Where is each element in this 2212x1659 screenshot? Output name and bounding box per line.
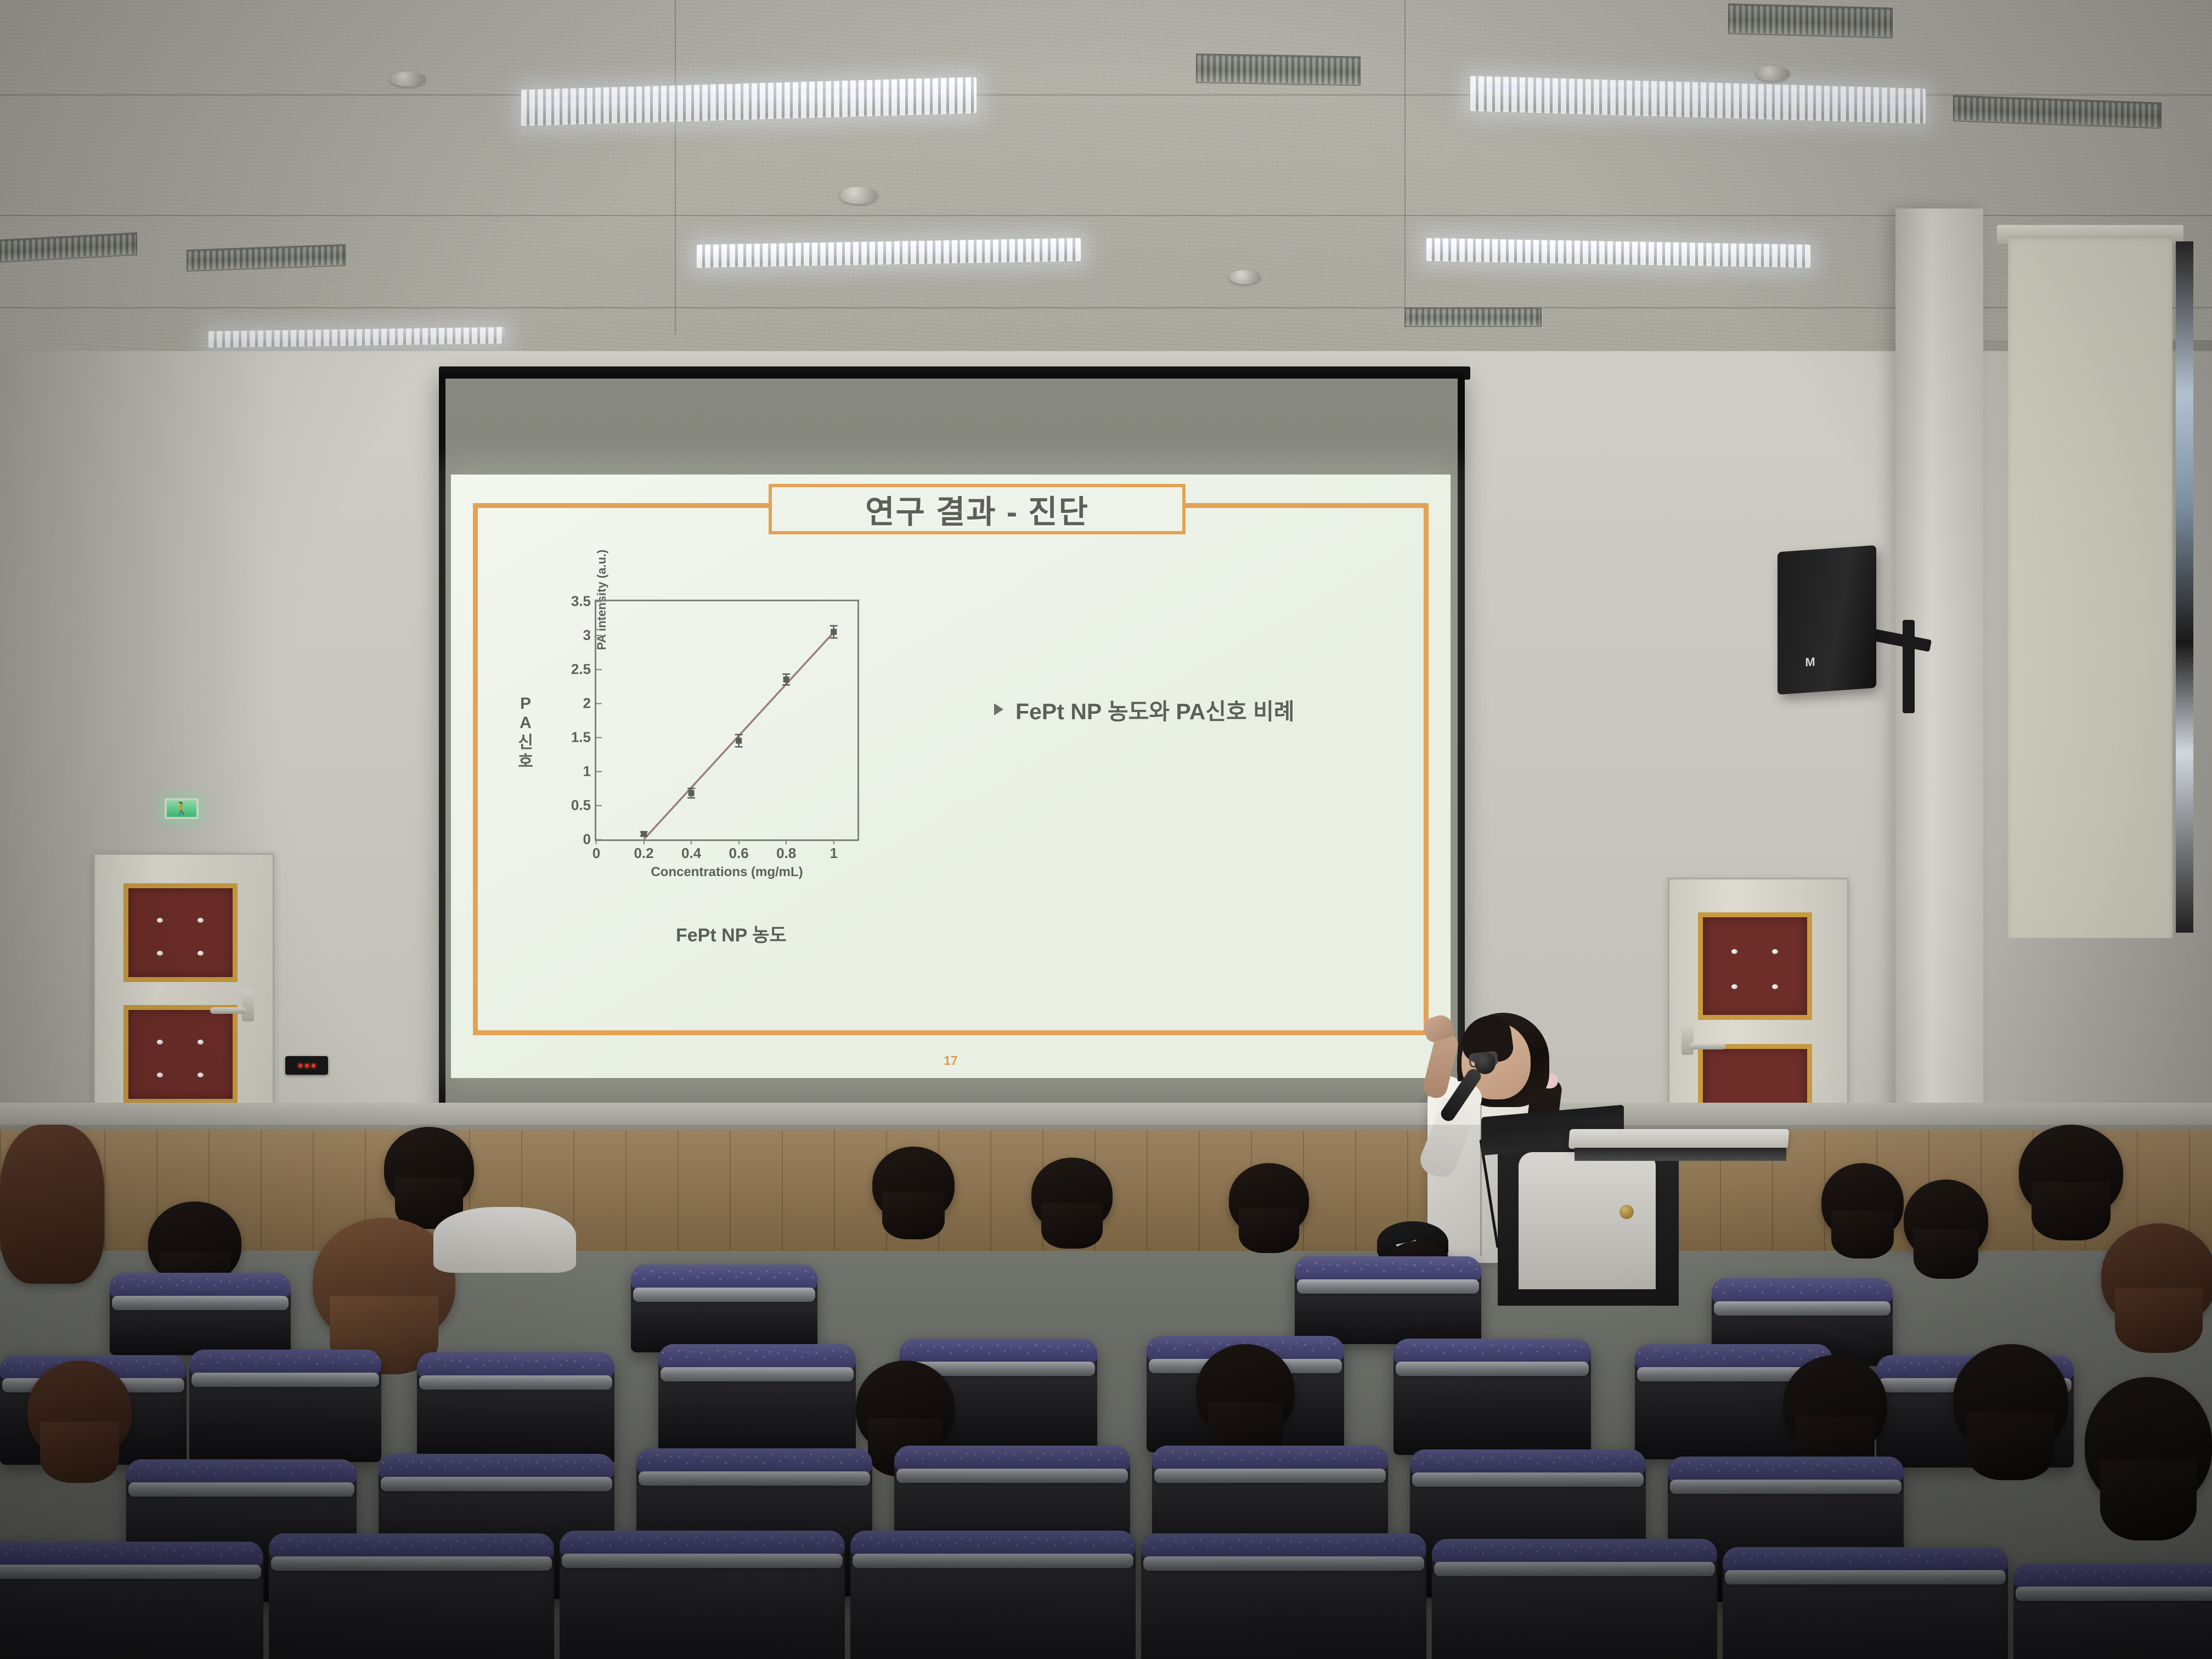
lecture-hall-photo: 연구 결과 - 진단 P A 신 호 PA intensity (a.u.) C… (0, 0, 2212, 1659)
chart-y-tick: 2 (583, 695, 596, 712)
smoke-detector-icon (1229, 270, 1261, 284)
door-handle[interactable] (1689, 1043, 1725, 1049)
plot-wrapper: PA intensity (a.u.) Concentrations (mg/m… (562, 590, 869, 875)
seat[interactable] (850, 1531, 1136, 1659)
door-left[interactable] (93, 853, 274, 1144)
chart-y-tick: 2.5 (571, 661, 596, 678)
audience-head (1783, 1355, 1887, 1454)
audience-head (1196, 1344, 1295, 1437)
chart-x-tick: 0.2 (634, 839, 653, 862)
door-panel (1698, 912, 1812, 1020)
audience-head (1031, 1158, 1113, 1231)
seat[interactable] (1141, 1533, 1426, 1659)
audience-head (872, 1147, 955, 1221)
door-panel (123, 883, 238, 982)
seat[interactable] (269, 1533, 554, 1659)
ceiling-seam (1404, 0, 1406, 329)
seat[interactable] (110, 1273, 291, 1355)
seat[interactable] (2013, 1564, 2212, 1659)
audience-head (1821, 1163, 1904, 1240)
audience-head (1953, 1344, 2068, 1454)
slide-bullet-row: FePt NP 농도와 PA신호 비례 (994, 693, 1295, 726)
chart-y-tick: 0.5 (571, 797, 596, 814)
audience-head (2019, 1125, 2123, 1218)
door-panel (123, 1005, 238, 1104)
door-lock-plate (1681, 1023, 1694, 1055)
chart-x-tick: 0 (592, 839, 600, 862)
audience-head (27, 1361, 132, 1459)
audience-head (2101, 1223, 2212, 1328)
wall-speaker: M (1778, 545, 1876, 695)
speaker-mount-post (1903, 620, 1915, 713)
audience-head (1904, 1180, 1988, 1260)
ceiling-vent (1196, 53, 1361, 86)
ceiling-seam (0, 215, 2212, 216)
audience-seating (0, 1125, 2212, 1659)
chart-x-tick: 1 (830, 839, 837, 862)
chart-data-point (689, 790, 695, 796)
plot-svg (596, 601, 857, 839)
ceiling-vent (1404, 307, 1542, 327)
chart-x-tick: 0.4 (681, 839, 701, 862)
seat[interactable] (1393, 1339, 1591, 1455)
slide-page-number: 17 (944, 1053, 958, 1068)
vertical-label-char: 호 (518, 752, 533, 771)
vertical-label-char: 신 (518, 733, 533, 752)
chart-y-tick: 1.5 (571, 729, 596, 746)
seat[interactable] (631, 1265, 817, 1352)
seat[interactable] (1432, 1539, 1717, 1659)
audience-head (1229, 1163, 1309, 1235)
triangle-bullet-icon (994, 703, 1003, 715)
audience-shoulders (433, 1207, 576, 1273)
seat[interactable] (1295, 1256, 1481, 1344)
slide-bullet-text: FePt NP 농도와 PA신호 비례 (1015, 693, 1295, 726)
presentation-slide: 연구 결과 - 진단 P A 신 호 PA intensity (a.u.) C… (451, 475, 1451, 1078)
page-title: 연구 결과 - 진단 (865, 486, 1089, 532)
chart-vertical-korean-label: P A 신 호 (511, 694, 540, 772)
seat[interactable] (189, 1350, 381, 1462)
exit-sign-icon: 🚶 (165, 798, 199, 819)
ceiling-seam (675, 0, 676, 335)
seat[interactable] (560, 1531, 845, 1659)
ceiling (0, 0, 2212, 384)
vertical-label-char: A (520, 713, 532, 732)
chart-data-point (736, 738, 742, 744)
speaker-logo: M (1805, 655, 1815, 670)
vertical-label-char: P (520, 694, 531, 713)
ceiling-seam (0, 307, 2212, 308)
chart-bottom-korean-label: FePt NP 농도 (676, 920, 787, 947)
roller-blind (2008, 236, 2172, 938)
audience-head (856, 1361, 955, 1454)
door-lock-plate (242, 990, 254, 1022)
chart-data-point (783, 676, 789, 682)
chart: P A 신 호 PA intensity (a.u.) Concentratio… (511, 584, 939, 1001)
seat[interactable] (0, 1542, 263, 1659)
audience-head (148, 1201, 241, 1284)
chart-x-tick: 0.6 (729, 839, 749, 862)
ceiling-vent (1728, 3, 1893, 38)
seat[interactable] (417, 1352, 614, 1465)
slide-title-box: 연구 결과 - 진단 (769, 484, 1186, 534)
chart-x-tick: 0.8 (776, 839, 796, 862)
plot-area: Concentrations (mg/mL) 00.511.522.533.50… (595, 600, 859, 841)
microphone-head-icon (1475, 1052, 1496, 1074)
audience-head (384, 1127, 474, 1209)
audience-head (2085, 1377, 2212, 1509)
running-man-icon: 🚶 (174, 803, 189, 815)
chart-x-axis-label: Concentrations (mg/mL) (651, 865, 803, 880)
smoke-detector-icon (839, 187, 878, 204)
chart-data-point (831, 629, 837, 635)
ceiling-texture (0, 0, 2212, 384)
wall-column (1895, 208, 1983, 1251)
seat[interactable] (1723, 1547, 2008, 1659)
seat[interactable] (658, 1344, 856, 1459)
chart-y-tick: 1 (583, 763, 596, 780)
chart-y-tick: 3 (583, 627, 596, 644)
door-keypad[interactable] (285, 1056, 328, 1075)
window-gap (2176, 241, 2193, 933)
audience-head (0, 1125, 104, 1284)
smoke-detector-icon (1756, 66, 1790, 81)
chart-y-tick: 3.5 (571, 593, 596, 610)
chart-data-point (641, 831, 647, 837)
smoke-detector-icon (390, 71, 426, 87)
door-handle[interactable] (210, 1007, 246, 1014)
